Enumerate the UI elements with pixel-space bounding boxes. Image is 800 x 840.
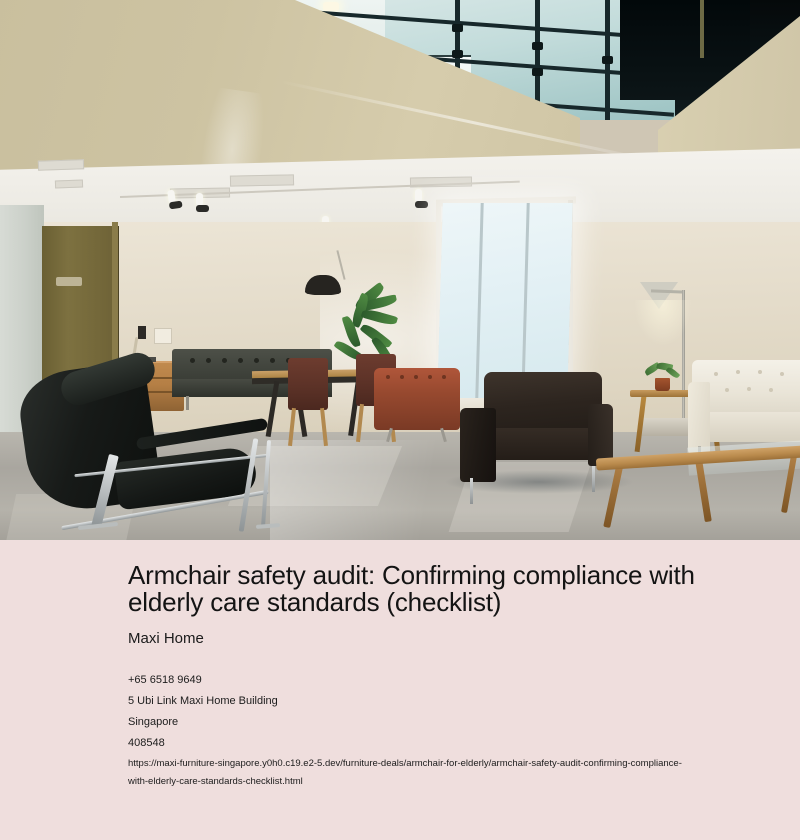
railing-clamp (452, 50, 463, 58)
door-sign (56, 277, 82, 286)
railing-clamp (532, 42, 543, 50)
contact-postcode: 408548 (128, 733, 720, 754)
glazing-mullion (700, 0, 704, 58)
brand-name: Maxi Home (128, 630, 720, 648)
window-mullion (475, 203, 483, 398)
light-switch-plate (154, 328, 172, 344)
terracotta-pot (655, 378, 670, 391)
railing-clamp (532, 68, 543, 76)
armchair-leg (470, 478, 473, 504)
chrome-frame-bar (261, 440, 271, 528)
brown-sofa-legs (386, 428, 448, 442)
contact-block: +65 6518 9649 5 Ubi Link Maxi Home Build… (128, 670, 720, 754)
wall-box (138, 326, 146, 339)
ceiling-slot (55, 180, 83, 189)
floor-lamp-glow (634, 300, 692, 346)
armchair-leg (592, 466, 595, 492)
brown-leather-sofa-background (374, 368, 460, 430)
info-panel: Armchair safety audit: Confirming compli… (0, 540, 800, 840)
contact-country: Singapore (128, 712, 720, 733)
page-title: Armchair safety audit: Confirming compli… (128, 562, 720, 616)
railing-clamp (452, 24, 463, 32)
contact-phone: +65 6518 9649 (128, 670, 720, 691)
railing-clamp (602, 56, 613, 64)
ceiling-light-icon (323, 2, 339, 11)
dining-chair (288, 358, 328, 410)
hero-photo (0, 0, 800, 540)
white-sofa-arm (688, 382, 710, 454)
window-mullion (521, 203, 529, 398)
black-leather-lounge-chair (18, 368, 283, 528)
ceiling-slot (38, 159, 84, 171)
ceiling-slot (230, 174, 294, 186)
track-spotlight-icon (415, 189, 422, 202)
lounge-chair-armrest (136, 418, 268, 451)
chrome-frame-foot (256, 523, 280, 529)
page-url[interactable]: https://maxi-furniture-singapore.y0h0.c1… (128, 755, 688, 791)
armchair-left-arm (460, 408, 496, 482)
dark-brown-leather-armchair (458, 372, 613, 492)
armchair-backrest (484, 372, 602, 434)
contact-street: 5 Ubi Link Maxi Home Building (128, 691, 720, 712)
track-spotlight-icon (196, 193, 203, 206)
page-root: Armchair safety audit: Confirming compli… (0, 0, 800, 840)
white-sofa-seat (696, 412, 800, 442)
